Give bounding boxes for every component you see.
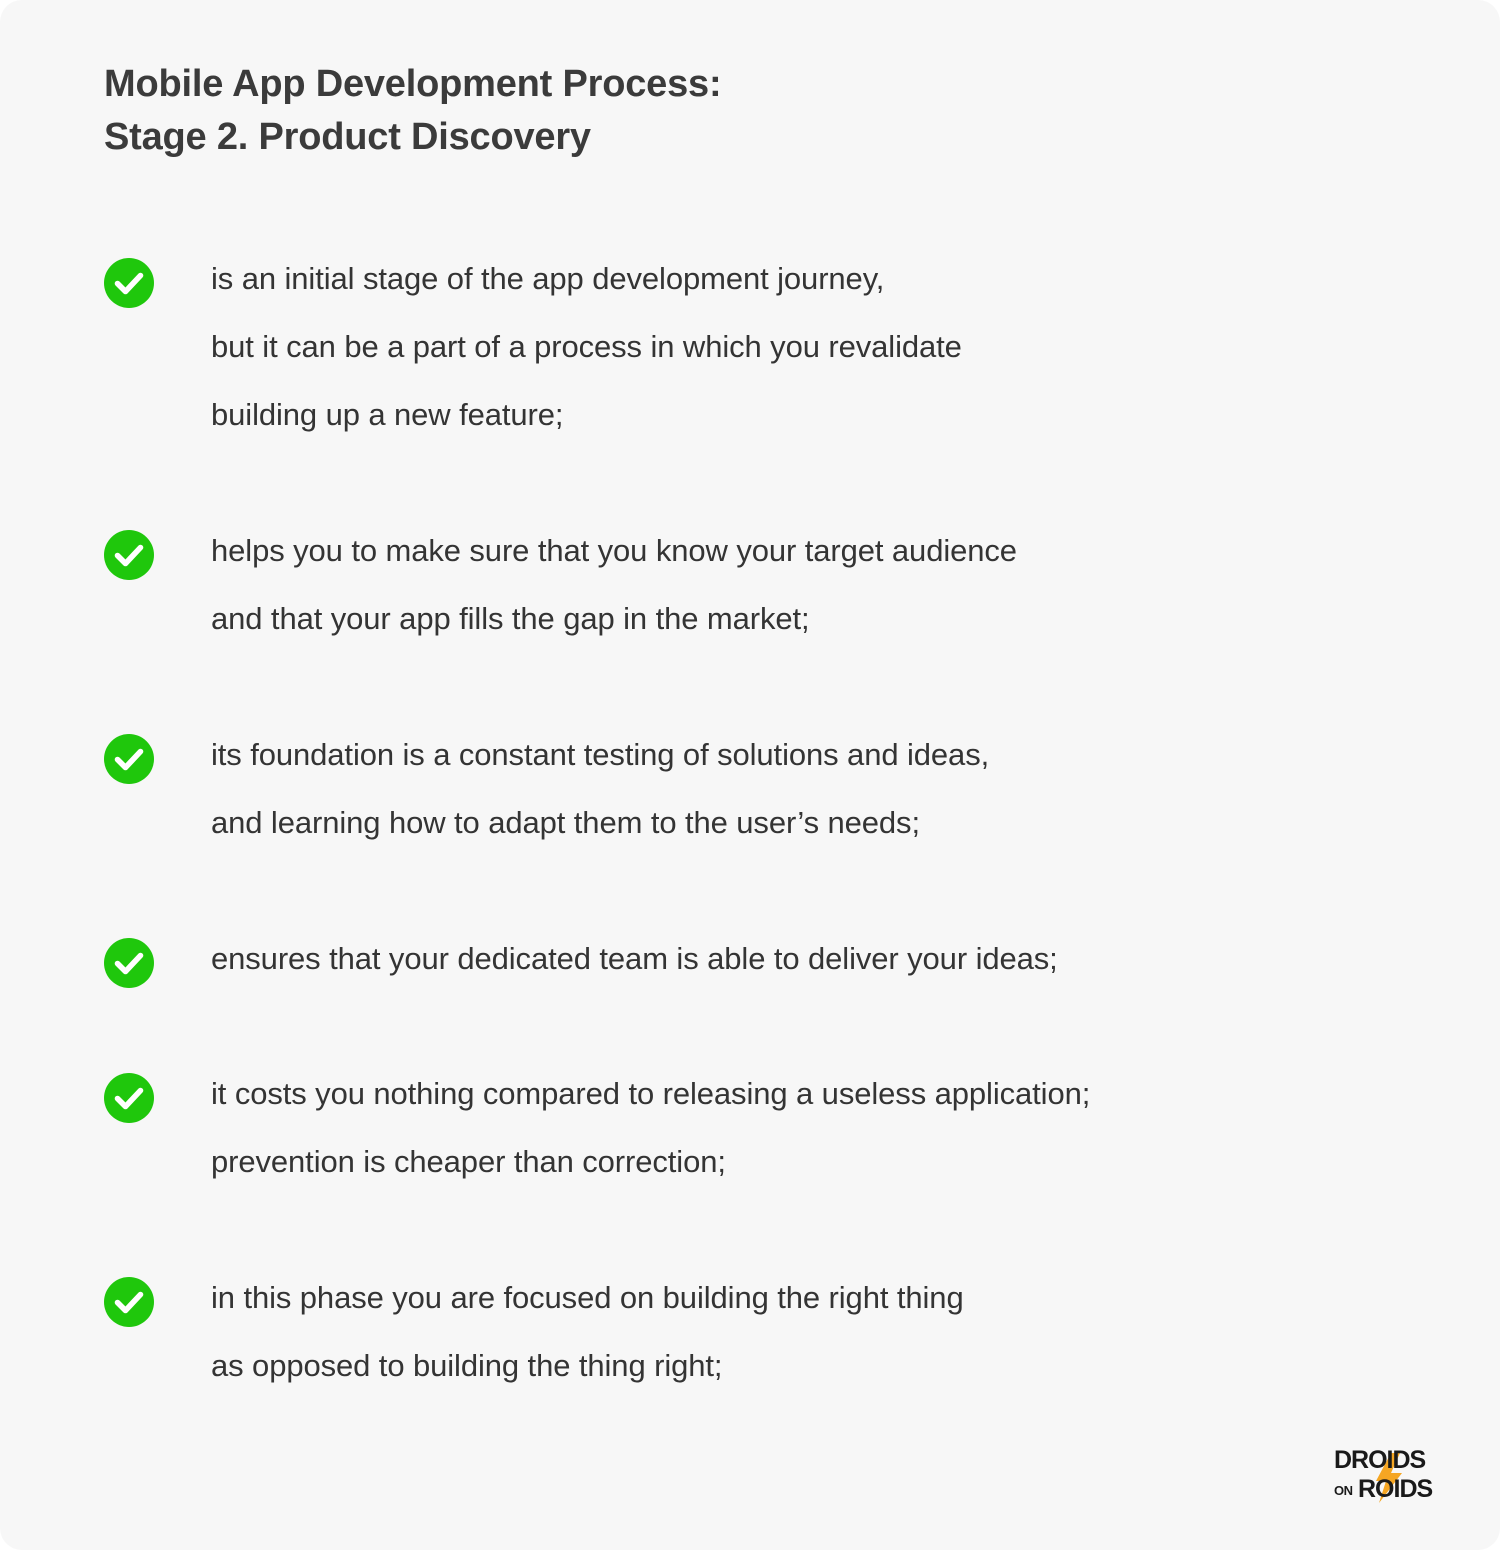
logo-line-2: ROIDS	[1358, 1475, 1433, 1503]
check-circle-icon	[104, 1073, 154, 1123]
list-item-label: in this phase you are focused on buildin…	[211, 1264, 964, 1400]
list-item: ensures that your dedicated team is able…	[104, 938, 1434, 993]
list-item-label: it costs you nothing compared to releasi…	[211, 1060, 1090, 1196]
droids-on-roids-logo: DROIDS ON ROIDS	[1332, 1443, 1444, 1505]
logo-line-1: DROIDS	[1334, 1446, 1426, 1474]
check-circle-icon	[104, 1277, 154, 1327]
list-item-label: helps you to make sure that you know you…	[211, 517, 1017, 653]
list-item: in this phase you are focused on buildin…	[104, 1277, 1434, 1400]
list-item-label: is an initial stage of the app developme…	[211, 245, 962, 449]
list-item: it costs you nothing compared to releasi…	[104, 1073, 1434, 1196]
list-item-label: ensures that your dedicated team is able…	[211, 925, 1058, 993]
logo-line-2-small: ON	[1334, 1483, 1353, 1498]
list-item: its foundation is a constant testing of …	[104, 734, 1434, 857]
check-circle-icon	[104, 938, 154, 988]
list-item: helps you to make sure that you know you…	[104, 530, 1434, 653]
page-title: Mobile App Development Process: Stage 2.…	[104, 58, 1304, 164]
check-circle-icon	[104, 530, 154, 580]
logo-mark: DROIDS ON ROIDS	[1332, 1443, 1444, 1505]
list-item: is an initial stage of the app developme…	[104, 258, 1434, 449]
infographic-card: Mobile App Development Process: Stage 2.…	[0, 0, 1500, 1550]
check-circle-icon	[104, 258, 154, 308]
list-item-label: its foundation is a constant testing of …	[211, 721, 989, 857]
check-circle-icon	[104, 734, 154, 784]
